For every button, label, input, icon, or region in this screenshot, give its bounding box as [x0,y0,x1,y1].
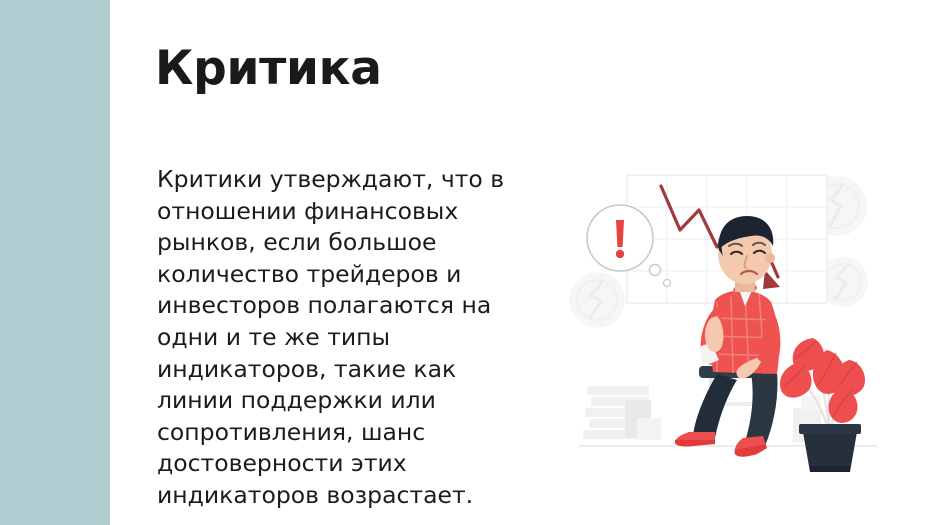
exclamation-icon [616,220,624,258]
paper-stack-icon [583,386,661,440]
potted-plant [780,338,865,472]
slide: Критика Критики утверждают, что в отноше… [0,0,935,525]
slide-content: Критика Критики утверждают, что в отноше… [155,0,555,525]
plant-pot [799,424,861,472]
page-title: Критика [155,44,382,93]
body-paragraph: Критики утверждают, что в отношении фина… [157,164,529,512]
accent-side-band [0,0,110,525]
broken-coin-icon-left [569,272,625,328]
worried-man-falling-chart-illustration [565,150,895,480]
plant-leaves [780,338,865,423]
